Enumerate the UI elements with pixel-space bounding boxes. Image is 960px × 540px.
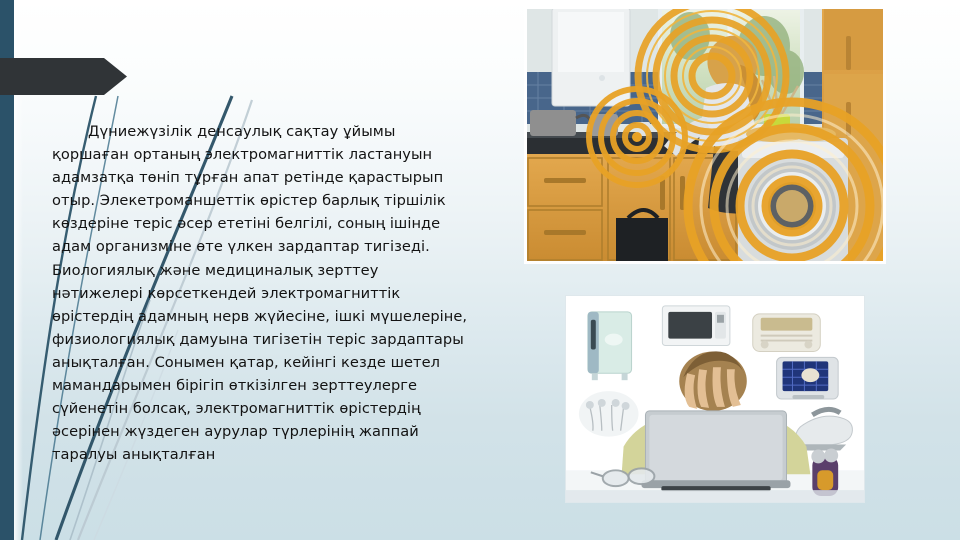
body-paragraph: Дүниежүзілік денсаулық сақтау ұйымы қорш… (52, 120, 472, 466)
kitchen-em-radiation-photo (524, 6, 886, 264)
slide-canvas: Дүниежүзілік денсаулық сақтау ұйымы қорш… (0, 0, 960, 540)
arrow-banner (0, 58, 127, 95)
appliances-around-person-photo (565, 295, 865, 503)
